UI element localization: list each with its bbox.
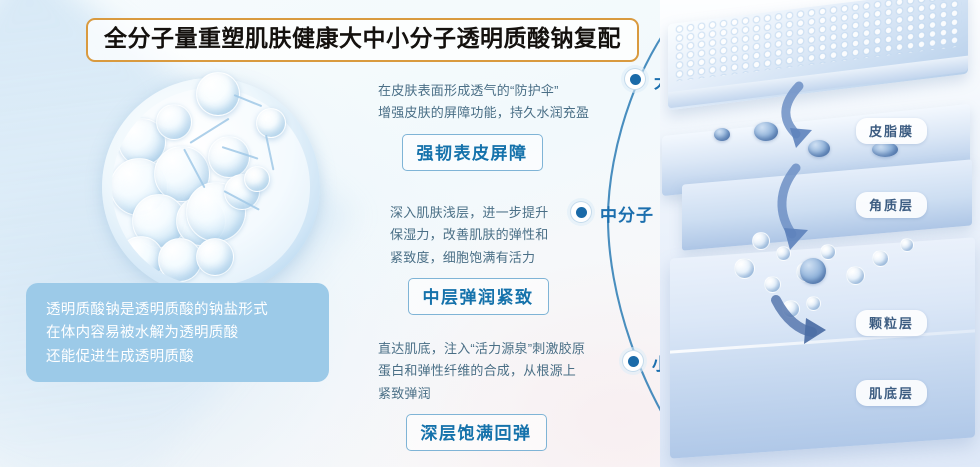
info-card: 透明质酸钠是透明质酸的钠盐形式 在体内容易被水解为透明质酸 还能促进生成透明质酸 (26, 283, 329, 382)
page-title-box: 全分子量重塑肌肤健康大中小分子透明质酸钠复配 (86, 18, 639, 62)
node-marker-medium[interactable] (570, 201, 592, 223)
description-line: 保湿力，改善肌肤的弹性和 (390, 224, 570, 246)
badge-deep-plump[interactable]: 深层饱满回弹 (406, 414, 547, 451)
bubble (208, 136, 250, 178)
description-line: 紧致弹润 (378, 383, 584, 405)
info-card-line-3: 还能促进生成透明质酸 (46, 346, 309, 369)
description-line: 紧致度，细胞饱满有活力 (390, 247, 570, 269)
description-block-large: 在皮肤表面形成透气的“防护伞” 增强皮肤的屏障功能，持久水润充盈 强韧表皮屏障 (378, 80, 578, 171)
infographic-canvas: 全分子量重塑肌肤健康大中小分子透明质酸钠复配 (0, 0, 980, 467)
molecule-illustration (96, 70, 336, 305)
penetration-arrows (660, 0, 980, 467)
skin-layer-label-sebum: 皮脂膜 (856, 118, 927, 144)
description-line: 直达肌底，注入“活力源泉”刺激胶原 (378, 338, 584, 360)
description-line: 蛋白和弹性纤维的合成，从根源上 (378, 360, 584, 382)
badge-middle-elastic[interactable]: 中层弹润紧致 (408, 278, 549, 315)
bubble (156, 104, 192, 140)
node-marker-large[interactable] (624, 68, 646, 90)
node-marker-small[interactable] (622, 350, 644, 372)
description-line: 深入肌肤浅层，进一步提升 (390, 202, 570, 224)
info-card-line-1: 透明质酸钠是透明质酸的钠盐形式 (46, 299, 309, 322)
page-title: 全分子量重塑肌肤健康大中小分子透明质酸钠复配 (104, 26, 621, 52)
skin-layer-label-basal: 肌底层 (856, 380, 927, 406)
skin-layer-label-corneum: 角质层 (856, 192, 927, 218)
bubble (196, 238, 234, 276)
badge-row-small: 深层饱满回弹 (378, 405, 574, 451)
node-label-medium: 中分子 (600, 201, 654, 226)
molecule-node (244, 166, 270, 192)
info-card-line-2: 在体内容易被水解为透明质酸 (46, 322, 309, 345)
badge-strong-barrier[interactable]: 强韧表皮屏障 (402, 134, 543, 171)
description-line: 增强皮肤的屏障功能，持久水润充盈 (378, 102, 578, 124)
badge-row-medium: 中层弹润紧致 (390, 269, 566, 315)
description-line: 在皮肤表面形成透气的“防护伞” (378, 80, 578, 102)
skin-layer-label-granular: 颗粒层 (856, 310, 927, 336)
skin-layer-illustration: 皮脂膜 角质层 颗粒层 肌底层 (660, 0, 980, 467)
description-block-small: 直达肌底，注入“活力源泉”刺激胶原 蛋白和弹性纤维的合成，从根源上 紧致弹润 深… (378, 338, 584, 451)
badge-row-large: 强韧表皮屏障 (378, 125, 566, 171)
molecule-node (256, 108, 286, 138)
description-block-medium: 深入肌肤浅层，进一步提升 保湿力，改善肌肤的弹性和 紧致度，细胞饱满有活力 中层… (390, 202, 570, 315)
